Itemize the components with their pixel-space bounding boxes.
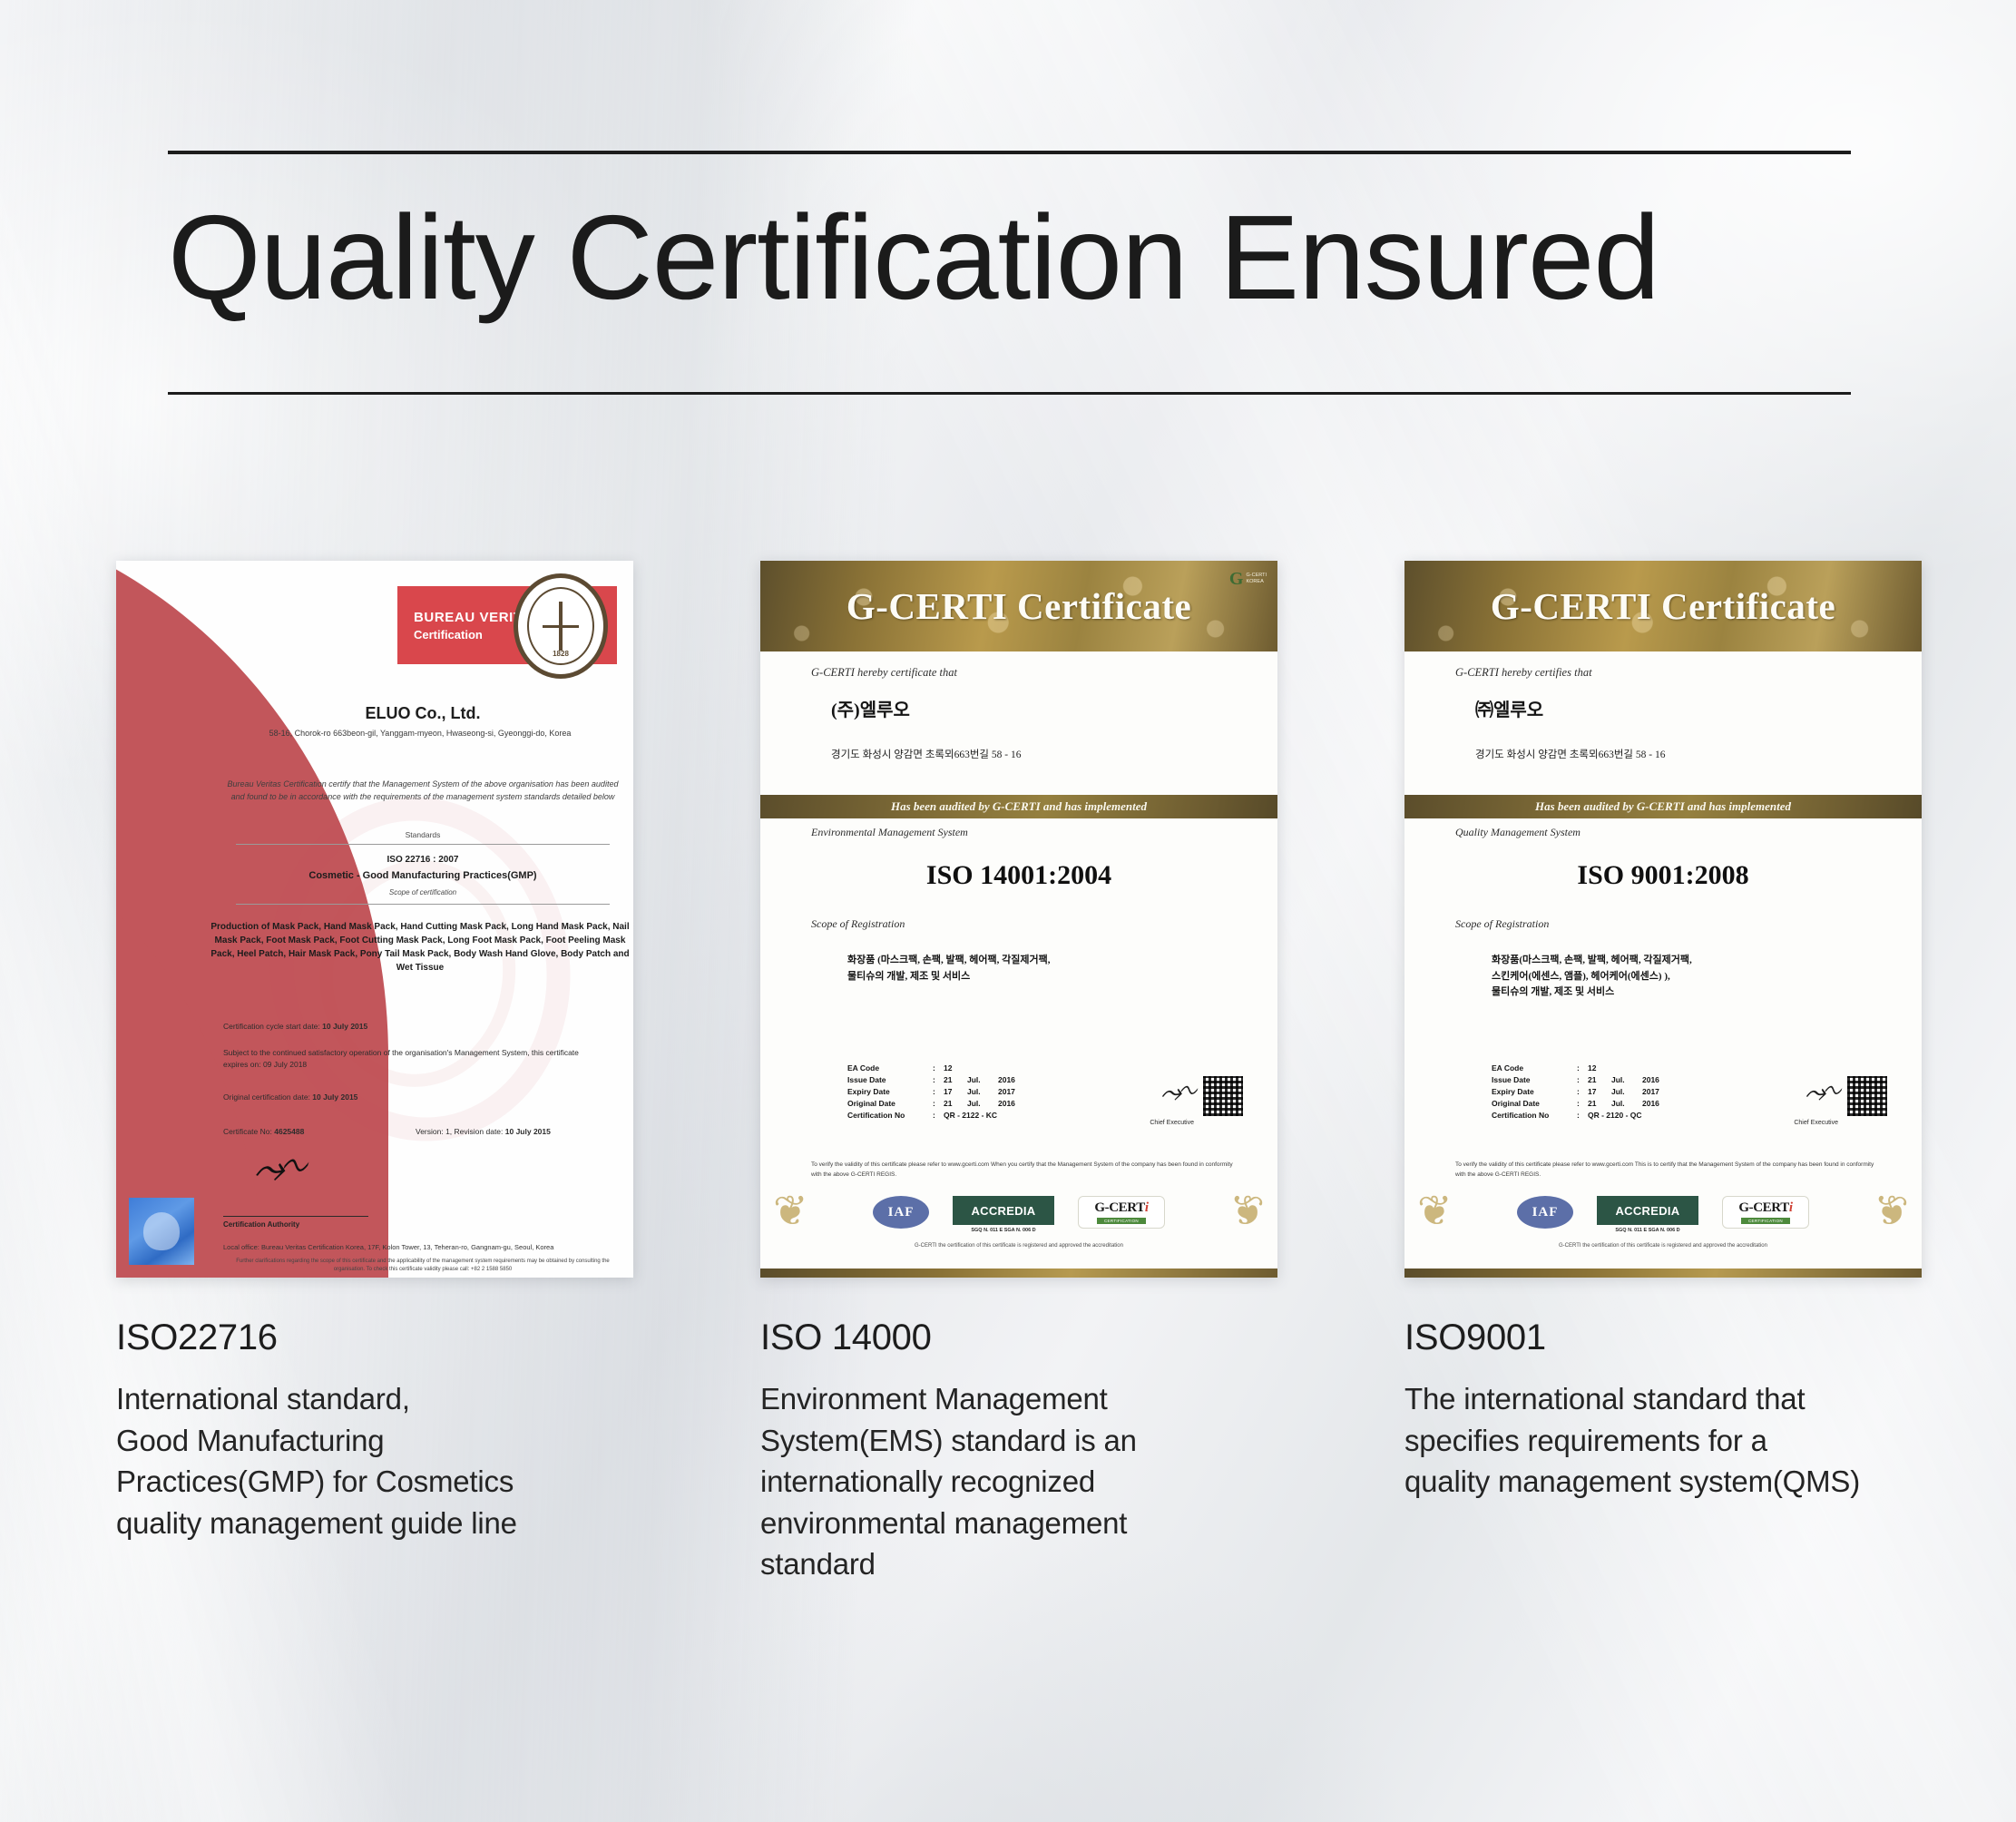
bv-original-value: 10 July 2015 (312, 1092, 357, 1102)
original-date-year: 2016 (1642, 1097, 1659, 1109)
gcerti-logo-main: G-CERT (1094, 1200, 1144, 1215)
bv-company-name: ELUO Co., Ltd. (223, 704, 622, 723)
caption-title: ISO9001 (1404, 1318, 1922, 1358)
gcerti-audited-band: Has been audited by G-CERTI and has impl… (1404, 795, 1922, 818)
issue-date-day: 21 (944, 1073, 967, 1085)
certno-label: Certification No (847, 1109, 933, 1121)
bv-certificate-no: Certificate No: 4625488 (223, 1127, 304, 1136)
caption-line: System(EMS) standard is an (760, 1420, 1277, 1462)
certificate-image-iso22716[interactable]: BUREAU VERITAS Certification 1828 ELUO C… (116, 561, 633, 1278)
caption-line: International standard, (116, 1378, 633, 1420)
certno-value: QR - 2120 - QC (1588, 1109, 1659, 1121)
ea-code-label: EA Code (847, 1062, 933, 1073)
gcerti-signature-icon: ⤳∿ (1803, 1076, 1837, 1112)
bv-version-value: 10 July 2015 (505, 1127, 551, 1136)
original-date-label: Original Date (1492, 1097, 1577, 1109)
certno-label: Certification No (1492, 1109, 1577, 1121)
caption-line: Good Manufacturing (116, 1420, 633, 1462)
bv-certno-value: 4625488 (274, 1127, 304, 1136)
issue-date-label: Issue Date (847, 1073, 933, 1085)
accredia-logo-icon: ACCREDIA (953, 1196, 1054, 1225)
caption-line: The international standard that (1404, 1378, 1922, 1420)
gcerti-signature-label: Chief Executive (1150, 1120, 1194, 1126)
gcerti-standard: ISO 9001:2008 (1404, 860, 1922, 891)
gcerti-scope-line: 스킨케어(에센스, 앰플), 헤어케어(에센스) ), (1492, 969, 1873, 985)
table-row: Certification No : QR - 2122 - KC (847, 1109, 1015, 1121)
page-title: Quality Certification Ensured (168, 198, 1892, 318)
gcerti-accreditation-logos: IAF ACCREDIA SGQ N. 011 E SGA N. 006 D G… (760, 1196, 1277, 1235)
bv-signature-icon: ⤳∿ (250, 1142, 302, 1197)
expiry-date-month: Jul. (967, 1085, 998, 1097)
gcerti-scope-label: Scope of Registration (1455, 917, 1549, 931)
issue-date-month: Jul. (1611, 1073, 1642, 1085)
table-row: EA Code : 12 (847, 1062, 1015, 1073)
gcerti-scope-label: Scope of Registration (811, 917, 905, 931)
ea-code-value: 12 (944, 1062, 967, 1073)
gcerti-logo-icon: G-CERTi CERTIFICATION (1078, 1196, 1165, 1229)
iaf-logo-icon: IAF (1517, 1196, 1573, 1229)
gcerti-gold-band: G-CERTI Certificate G G-CERTI KOREA (760, 561, 1277, 651)
gcerti-scope-line: 화장품 (마스크팩, 손팩, 발팩, 헤어팩, 각질제거팩, (847, 953, 1228, 969)
bv-certno-label: Certificate No: (223, 1127, 272, 1136)
gcerti-verify-note: To verify the validity of this certifica… (1455, 1160, 1882, 1180)
original-date-month: Jul. (967, 1097, 998, 1109)
certificate-column-iso9001: G-CERTI Certificate G-CERTI hereby certi… (1404, 561, 1922, 1585)
gcerti-signature-icon: ⤳∿ (1159, 1076, 1193, 1112)
original-date-year: 2016 (998, 1097, 1015, 1109)
caption-iso9001: ISO9001 The international standard that … (1404, 1318, 1922, 1503)
gcerti-footer-note: G-CERTI the certification of this certif… (760, 1243, 1277, 1249)
accredia-logo-icon: ACCREDIA (1597, 1196, 1698, 1225)
gcerti-accreditation-logos: IAF ACCREDIA SGQ N. 011 E SGA N. 006 D G… (1404, 1196, 1922, 1235)
original-date-label: Original Date (847, 1097, 933, 1109)
title-rule-bottom (168, 392, 1851, 395)
gcerti-footer-bar (760, 1269, 1277, 1278)
gcerti-company-name: (주)엘루오 (831, 695, 910, 721)
certification-page: Quality Certification Ensured BUREAU VER… (0, 0, 2016, 1822)
gcerti-scope-line: 화장품(마스크팩, 손팩, 발팩, 헤어팩, 각질제거팩, (1492, 953, 1873, 969)
caption-iso14000: ISO 14000 Environment Management System(… (760, 1318, 1277, 1585)
expiry-date-day: 17 (944, 1085, 967, 1097)
gcerti-scope-text: 화장품 (마스크팩, 손팩, 발팩, 헤어팩, 각질제거팩, 물티슈의 개발, … (847, 953, 1228, 984)
ea-code-value: 12 (1588, 1062, 1611, 1073)
table-row: Certification No : QR - 2120 - QC (1492, 1109, 1659, 1121)
caption-body: Environment Management System(EMS) stand… (760, 1378, 1277, 1585)
caption-line: internationally recognized (760, 1461, 1277, 1503)
gcerti-footer-bar (1404, 1269, 1922, 1278)
caption-body: International standard, Good Manufacturi… (116, 1378, 633, 1543)
caption-line: specifies requirements for a (1404, 1420, 1922, 1462)
expiry-date-month: Jul. (1611, 1085, 1642, 1097)
gcerti-standard: ISO 14001:2004 (760, 860, 1277, 891)
bv-version: Version: 1, Revision date: 10 July 2015 (416, 1127, 551, 1136)
bv-fine-print: Further clarifications regarding the sco… (232, 1258, 613, 1274)
bv-company-address: 58-16, Chorok-ro 663beon-gil, Yanggam-my… (207, 729, 633, 738)
table-row: Original Date : 21 Jul. 2016 (847, 1097, 1015, 1109)
caption-line: Practices(GMP) for Cosmetics (116, 1461, 633, 1503)
table-row: Original Date : 21 Jul. 2016 (1492, 1097, 1659, 1109)
original-date-day: 21 (944, 1097, 967, 1109)
bv-original-date: Original certification date: 10 July 201… (223, 1092, 357, 1102)
caption-line: quality management system(QMS) (1404, 1461, 1922, 1503)
caption-title: ISO 14000 (760, 1318, 1277, 1358)
accredia-sub-codes: SGQ N. 011 E SGA N. 006 D (953, 1228, 1054, 1235)
gcerti-logo-i: i (1145, 1200, 1149, 1215)
accredia-sub-codes: SGQ N. 011 E SGA N. 006 D (1597, 1228, 1698, 1235)
issue-date-year: 2016 (1642, 1073, 1659, 1085)
gcerti-scope-line: 물티슈의 개발, 제조 및 서비스 (1492, 984, 1873, 1001)
bv-signature-rule (223, 1216, 368, 1217)
certificate-column-iso14000: G-CERTI Certificate G G-CERTI KOREA G-CE… (760, 561, 1277, 1585)
gcerti-footer-note: G-CERTI the certification of this certif… (1404, 1243, 1922, 1249)
gcerti-signature-label: Chief Executive (1794, 1120, 1838, 1126)
gcerti-corner-t1: G-CERTI (1246, 573, 1267, 579)
gcerti-gold-band: G-CERTI Certificate (1404, 561, 1922, 651)
certificate-column-iso22716: BUREAU VERITAS Certification 1828 ELUO C… (116, 561, 633, 1585)
gcerti-company-name: ㈜엘루오 (1475, 695, 1543, 721)
expiry-date-label: Expiry Date (1492, 1085, 1577, 1097)
gcerti-ms-type: Environmental Management System (811, 826, 968, 839)
certno-value: QR - 2122 - KC (944, 1109, 1015, 1121)
gcerti-logo-main: G-CERT (1738, 1200, 1788, 1215)
gcerti-logo-icon: G-CERTi CERTIFICATION (1722, 1196, 1809, 1229)
caption-line: standard (760, 1543, 1277, 1585)
gcerti-scope-line: 물티슈의 개발, 제조 및 서비스 (847, 969, 1228, 985)
bv-standard-code: ISO 22716 : 2007 (223, 855, 622, 865)
gcerti-qr-code-icon (1847, 1076, 1887, 1116)
gcerti-audited-band: Has been audited by G-CERTI and has impl… (760, 795, 1277, 818)
bv-scope-label: Scope of certification (223, 888, 622, 896)
bv-cycle-start-value: 10 July 2015 (322, 1022, 367, 1031)
gcerti-hereby: G-CERTI hereby certificate that (811, 666, 957, 680)
issue-date-year: 2016 (998, 1073, 1015, 1085)
gcerti-company-address: 경기도 화성시 양감면 초록뫼663번길 58 - 16 (831, 747, 1021, 761)
caption-title: ISO22716 (116, 1318, 633, 1358)
bv-hologram-icon (129, 1198, 194, 1265)
gcerti-company-address: 경기도 화성시 양감면 초록뫼663번길 58 - 16 (1475, 747, 1665, 761)
gcerti-logo-sub: CERTIFICATION (1097, 1218, 1146, 1224)
gcerti-scope-text: 화장품(마스크팩, 손팩, 발팩, 헤어팩, 각질제거팩, 스킨케어(에센스, … (1492, 953, 1873, 1001)
gcerti-audited-text: Has been audited by G-CERTI and has impl… (891, 799, 1147, 814)
bv-authority-label: Certification Authority (223, 1220, 299, 1229)
bv-scope-text: Production of Mask Pack, Hand Mask Pack,… (207, 920, 633, 975)
table-row: EA Code : 12 (1492, 1062, 1659, 1073)
bv-standard-name: Cosmetic - Good Manufacturing Practices(… (214, 870, 631, 881)
bv-statement: Bureau Veritas Certification certify tha… (223, 779, 622, 804)
expiry-date-day: 17 (1588, 1085, 1611, 1097)
table-row: Issue Date : 21 Jul. 2016 (1492, 1073, 1659, 1085)
issue-date-label: Issue Date (1492, 1073, 1577, 1085)
gcerti-qr-code-icon (1203, 1076, 1243, 1116)
certificate-image-iso14000[interactable]: G-CERTI Certificate G G-CERTI KOREA G-CE… (760, 561, 1277, 1278)
gcerti-corner-logo-icon: G G-CERTI KOREA (1229, 570, 1267, 588)
caption-iso22716: ISO22716 International standard, Good Ma… (116, 1318, 633, 1543)
gcerti-verify-note: To verify the validity of this certifica… (811, 1160, 1238, 1180)
iaf-logo-icon: IAF (873, 1196, 929, 1229)
gcerti-corner-t2: KOREA (1246, 579, 1267, 585)
bv-standards-label: Standards (223, 830, 622, 839)
expiry-date-label: Expiry Date (847, 1085, 933, 1097)
bv-cycle-start-label: Certification cycle start date: (223, 1022, 320, 1031)
bv-expiry-note: Subject to the continued satisfactory op… (223, 1047, 586, 1071)
bv-divider-top (236, 844, 610, 845)
original-date-day: 21 (1588, 1097, 1611, 1109)
gcerti-corner-g: G (1229, 570, 1244, 588)
caption-body: The international standard that specifie… (1404, 1378, 1922, 1503)
gcerti-logo-i: i (1789, 1200, 1793, 1215)
gcerti-logo-sub: CERTIFICATION (1741, 1218, 1790, 1224)
issue-date-day: 21 (1588, 1073, 1611, 1085)
issue-date-month: Jul. (967, 1073, 998, 1085)
bv-version-label: Version: 1, Revision date: (416, 1127, 503, 1136)
table-row: Expiry Date : 17 Jul. 2017 (847, 1085, 1015, 1097)
caption-line: quality management guide line (116, 1503, 633, 1544)
gcerti-hereby: G-CERTI hereby certifies that (1455, 666, 1592, 680)
table-row: Issue Date : 21 Jul. 2016 (847, 1073, 1015, 1085)
gcerti-ms-type: Quality Management System (1455, 826, 1581, 839)
bv-cycle-start: Certification cycle start date: 10 July … (223, 1022, 367, 1031)
certificate-columns: BUREAU VERITAS Certification 1828 ELUO C… (116, 561, 1922, 1585)
caption-line: environmental management (760, 1503, 1277, 1544)
expiry-date-year: 2017 (1642, 1085, 1659, 1097)
original-date-month: Jul. (1611, 1097, 1642, 1109)
bv-divider-bottom (236, 904, 610, 905)
title-rule-top (168, 151, 1851, 154)
gcerti-audited-text: Has been audited by G-CERTI and has impl… (1535, 799, 1791, 814)
table-row: Expiry Date : 17 Jul. 2017 (1492, 1085, 1659, 1097)
gcerti-band-title: G-CERTI Certificate (1491, 584, 1835, 628)
gcerti-band-title: G-CERTI Certificate (847, 584, 1191, 628)
bv-office-address: Local office: Bureau Veritas Certificati… (223, 1243, 604, 1251)
caption-line: Environment Management (760, 1378, 1277, 1420)
gcerti-data-table: EA Code : 12 Issue Date : 21 Jul. 2016 (847, 1062, 1015, 1121)
bv-original-label: Original certification date: (223, 1092, 310, 1102)
expiry-date-year: 2017 (998, 1085, 1015, 1097)
ea-code-label: EA Code (1492, 1062, 1577, 1073)
gcerti-data-table: EA Code : 12 Issue Date : 21 Jul. 2016 (1492, 1062, 1659, 1121)
certificate-image-iso9001[interactable]: G-CERTI Certificate G-CERTI hereby certi… (1404, 561, 1922, 1278)
